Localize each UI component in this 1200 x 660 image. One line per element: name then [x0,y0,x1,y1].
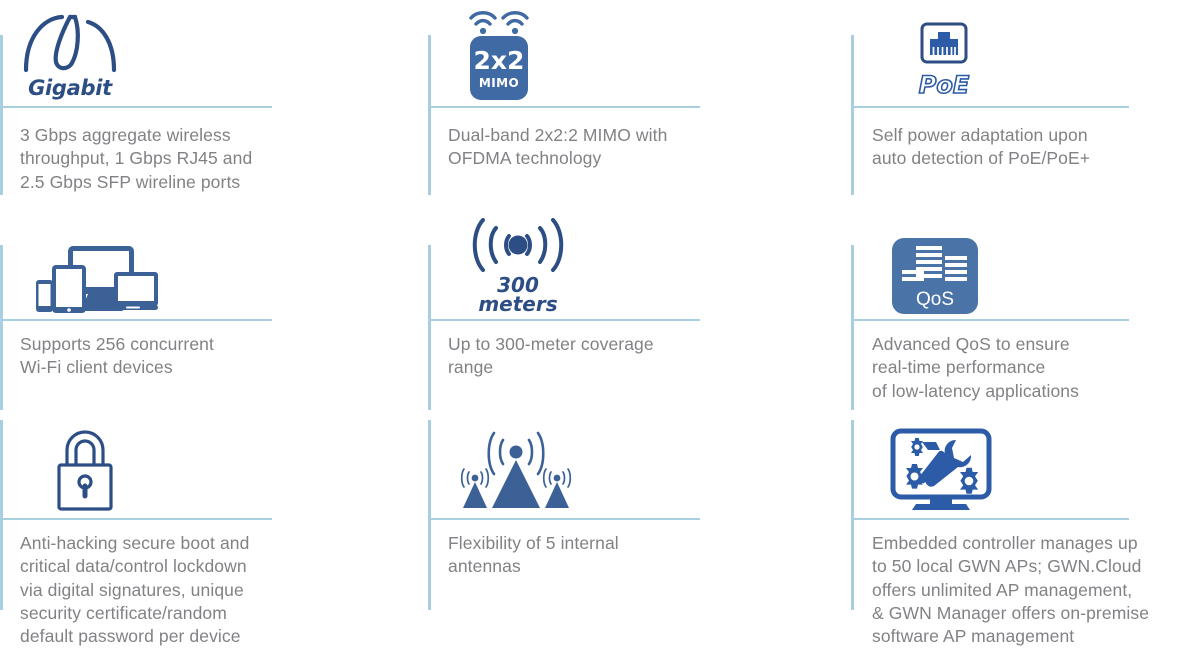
horizontal-divider [0,106,272,108]
feature-cell-mimo: 2x2 MIMO Dual-band 2x2:2 MIMO with OFDMA… [420,0,840,200]
qos-badge: QoS [892,238,978,314]
feature-description: Embedded controller manages up to 50 loc… [872,532,1149,648]
gigabit-wordmark: Gigabit [28,76,112,100]
feature-description: Anti-hacking secure boot and critical da… [20,532,249,648]
feature-description: Dual-band 2x2:2 MIMO with OFDMA technolo… [448,124,667,171]
multi-device-clients-icon [36,242,158,314]
horizontal-divider [428,106,700,108]
feature-cell-clients: Supports 256 concurrent Wi-Fi client dev… [0,200,420,400]
horizontal-divider [428,518,700,520]
horizontal-divider [851,106,1129,108]
feature-cell-range: 300 meters Up to 300-meter coverage rang… [420,200,840,400]
mimo-label: MIMO [479,77,519,89]
icon-area: Gigabit [18,0,420,100]
coverage-range-icon [466,216,570,278]
vertical-divider [428,245,431,410]
qos-label: QoS [892,289,978,311]
feature-cell-poe: PoE Self power adaptation upon auto dete… [840,0,1200,200]
feature-description: Advanced QoS to ensure real-time perform… [872,333,1079,403]
feature-cell-qos: QoS Advanced QoS to ensure real-time per… [840,200,1200,400]
feature-cell-management: Embedded controller manages up to 50 loc… [840,400,1200,660]
poe-wordmark: PoE [919,71,970,99]
vertical-divider [0,420,3,610]
poe-wordmark-icon: PoE [908,70,980,100]
horizontal-divider [0,319,272,321]
feature-description: Up to 300-meter coverage range [448,333,654,380]
icon-area: QoS [870,208,1200,314]
vertical-divider [428,35,431,195]
icon-area [870,408,1200,512]
mimo-badge: 2x2 MIMO [470,36,528,100]
vertical-divider [851,245,854,410]
mimo-value: 2x2 [474,48,525,73]
feature-grid: Gigabit 3 Gbps aggregate wireless throug… [0,0,1200,660]
padlock-icon [54,428,116,512]
feature-cell-gigabit: Gigabit 3 Gbps aggregate wireless throug… [0,0,420,200]
gigabit-logo-icon [18,10,122,74]
icon-area: 300 meters [446,208,840,314]
wifi-pair-icon [468,10,530,36]
feature-description: 3 Gbps aggregate wireless throughput, 1 … [20,124,252,194]
range-unit: meters [478,295,557,314]
horizontal-divider [0,518,272,520]
vertical-divider [851,35,854,195]
vertical-divider [0,245,3,410]
icon-area [18,208,420,314]
icon-area [446,408,840,512]
feature-description: Supports 256 concurrent Wi-Fi client dev… [20,333,214,380]
icon-area: PoE [870,0,1200,100]
horizontal-divider [851,518,1129,520]
vertical-divider [428,420,431,610]
vertical-divider [851,420,854,610]
feature-cell-antennas: Flexibility of 5 internal antennas [420,400,840,660]
icon-area [18,408,420,512]
icon-area: 2x2 MIMO [446,0,840,100]
feature-description: Flexibility of 5 internal antennas [448,532,619,579]
feature-cell-security: Anti-hacking secure boot and critical da… [0,400,420,660]
feature-description: Self power adaptation upon auto detectio… [872,124,1090,171]
horizontal-divider [428,319,700,321]
poe-rj45-icon [920,22,968,68]
vertical-divider [0,35,3,195]
antenna-towers-icon [448,426,584,512]
monitor-tools-management-icon [890,428,994,512]
equalizer-bars-icon [892,238,978,294]
horizontal-divider [851,319,1129,321]
